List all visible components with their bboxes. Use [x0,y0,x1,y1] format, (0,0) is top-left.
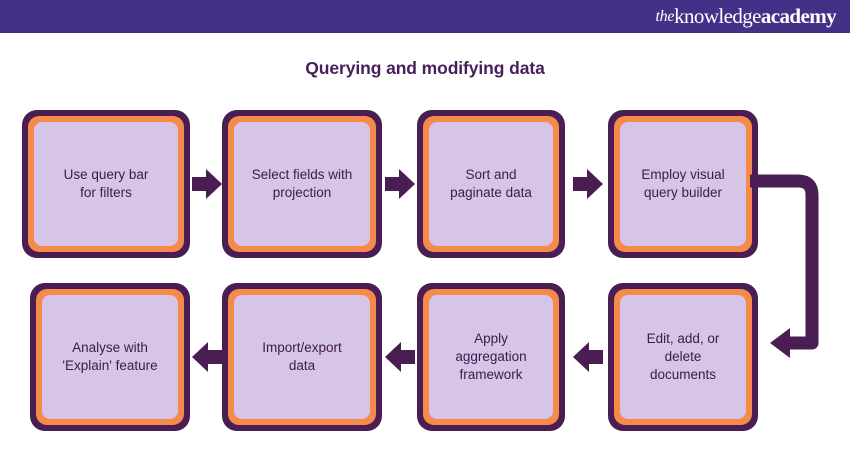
flow-node-4-label: Employ visual query builder [620,122,746,246]
flow-node-7-ring: Import/export data [228,289,376,425]
flow-node-1-label: Use query bar for filters [34,122,178,246]
arrow-node3-to-node4 [573,169,603,199]
flow-node-2-label: Select fields with projection [234,122,370,246]
logo-word-academy: academy [761,4,836,29]
flow-node-4[interactable]: Employ visual query builder [608,110,758,258]
flow-node-6-line3: framework [459,367,522,382]
flow-node-2[interactable]: Select fields with projection [222,110,382,258]
flow-node-6-label: Apply aggregation framework [429,295,553,419]
flow-node-5-line2: delete [665,349,702,364]
flow-node-3-line2: paginate data [450,185,532,200]
flow-node-4-line1: Employ visual [641,167,724,182]
flow-node-4-line2: query builder [644,185,722,200]
flow-node-6-line2: aggregation [455,349,526,364]
header-bar: theknowledgeacademy [0,0,850,33]
flow-node-1[interactable]: Use query bar for filters [22,110,190,258]
flow-node-6[interactable]: Apply aggregation framework [417,283,565,431]
flow-node-2-line2: projection [273,185,332,200]
arrow-head-left-icon [573,342,589,372]
logo-word-knowledge: knowledge [674,4,761,29]
flow-node-1-line2: for filters [80,185,132,200]
arrow-head-right-icon [587,169,603,199]
flow-node-1-ring: Use query bar for filters [28,116,184,252]
flow-node-7[interactable]: Import/export data [222,283,382,431]
arrow-head-left-icon [385,342,401,372]
flow-node-8-line1: Analyse with [72,340,148,355]
flow-node-3-line1: Sort and [465,167,516,182]
arrow-head-right-icon [399,169,415,199]
flow-node-7-label: Import/export data [234,295,370,419]
flow-node-5[interactable]: Edit, add, or delete documents [608,283,758,431]
flow-node-5-label: Edit, add, or delete documents [620,295,746,419]
arrow-node1-to-node2 [192,169,222,199]
flow-node-8-line2: 'Explain' feature [62,358,157,373]
brand-logo: theknowledgeacademy [655,1,836,32]
flow-node-2-ring: Select fields with projection [228,116,376,252]
flow-node-3-ring: Sort and paginate data [423,116,559,252]
arrow-shaft [587,350,603,364]
flow-node-7-line1: Import/export [262,340,342,355]
arrow-shaft [206,350,222,364]
flow-node-6-line1: Apply [474,331,508,346]
slide-canvas: theknowledgeacademy Querying and modifyi… [0,0,850,450]
flow-node-1-line1: Use query bar [64,167,149,182]
flow-node-5-ring: Edit, add, or delete documents [614,289,752,425]
flow-node-3[interactable]: Sort and paginate data [417,110,565,258]
flow-node-8-label: Analyse with 'Explain' feature [42,295,178,419]
arrow-node2-to-node3 [385,169,415,199]
arrow-node7-to-node8 [192,342,222,372]
flow-node-8[interactable]: Analyse with 'Explain' feature [30,283,190,431]
flow-node-4-ring: Employ visual query builder [614,116,752,252]
flow-node-5-line3: documents [650,367,716,382]
flow-node-2-line1: Select fields with [252,167,353,182]
flow-node-8-ring: Analyse with 'Explain' feature [36,289,184,425]
flow-node-3-label: Sort and paginate data [429,122,553,246]
logo-word-the: the [655,8,674,26]
arrow-node5-to-node6 [573,342,603,372]
elbow-connector-node4-to-node5 [750,168,850,368]
flow-node-7-line2: data [289,358,315,373]
arrow-node6-to-node7 [385,342,415,372]
arrow-shaft [399,350,415,364]
page-title: Querying and modifying data [0,58,850,79]
flow-node-5-line1: Edit, add, or [647,331,720,346]
arrow-head-right-icon [206,169,222,199]
arrow-head-left-icon [192,342,208,372]
flow-node-6-ring: Apply aggregation framework [423,289,559,425]
